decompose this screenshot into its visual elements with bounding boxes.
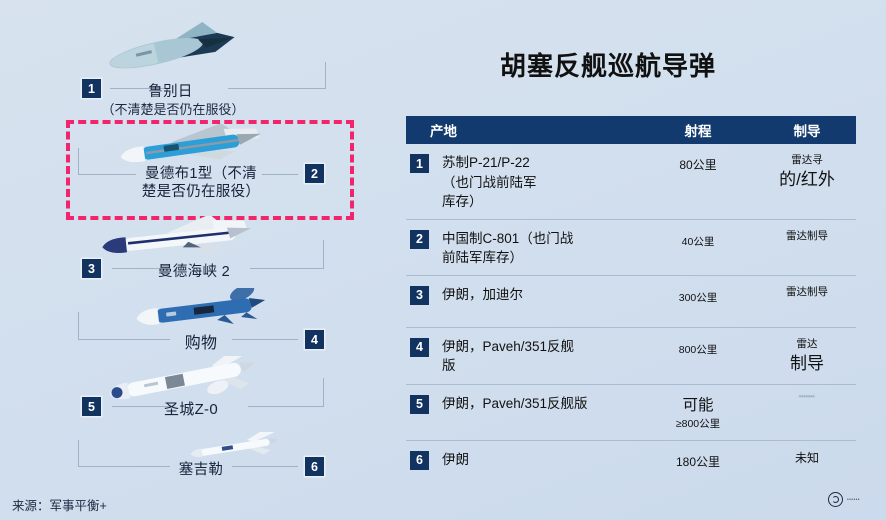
origin-text: 伊朗 [442, 450, 469, 470]
table-header-row: 产地 射程 制导 [406, 116, 856, 144]
origin-text: 伊朗，Paveh/351反舰 版 [442, 337, 574, 376]
cell-range: 300公里 [638, 285, 758, 320]
logo-mark-icon [828, 492, 843, 507]
row-badge-2[interactable]: 2 [410, 230, 429, 249]
connector-5-right [248, 406, 324, 407]
missile-label-3: 曼德海峡 2 [131, 260, 257, 281]
table-row: 2 中国制C-801（也门战 前陆军库存） 40公里 雷达制导 [406, 220, 856, 276]
page-title: 胡塞反舰巡航导弹 [500, 46, 716, 83]
cell-guidance: 雷达寻 的/红外 [758, 153, 856, 212]
guidance-text-small: 雷达制导 [758, 229, 856, 244]
cell-origin: 4 伊朗，Paveh/351反舰 版 [406, 337, 638, 377]
origin-text: 伊朗，加迪尔 [442, 285, 523, 305]
diagram-badge-6[interactable]: 6 [305, 457, 324, 476]
cell-guidance: 雷达 制导 [758, 337, 856, 377]
range-value: 可能 [638, 394, 758, 417]
cell-range: 80公里 [638, 153, 758, 212]
connector-3-vertical [323, 240, 324, 269]
cell-range: 可能 ≥800公里 [638, 394, 758, 433]
missile-sublabel-1: （不清楚是否仍在服役） [48, 99, 298, 118]
diagram-badge-2[interactable]: 2 [305, 164, 324, 183]
table-row: 6 伊朗 180公里 未知 [406, 441, 856, 485]
guidance-text-small: 雷达 [758, 337, 856, 352]
row-badge-5[interactable]: 5 [410, 395, 429, 414]
origin-text: 中国制C-801（也门战 前陆军库存） [442, 229, 573, 268]
guidance-text-large: 未知 [758, 450, 856, 467]
connector-1-vertical [325, 62, 326, 89]
range-value: 800公里 [679, 344, 718, 356]
connector-3-right [250, 268, 324, 269]
publisher-logo: •••••• [828, 492, 860, 507]
guidance-text-small: 雷达制导 [758, 285, 856, 300]
range-value: 300公里 [679, 292, 718, 304]
cell-origin: 1 苏制P-21/P-22 （也门战前陆军 库存） [406, 153, 638, 212]
guidance-text-illegible: ••••••• [758, 394, 856, 401]
connector-4-right [232, 339, 298, 340]
missile-illustration-1 [96, 22, 244, 80]
cell-range: 40公里 [638, 229, 758, 268]
missile-label-4: 购物 [171, 329, 231, 353]
column-header-guidance: 制导 [758, 120, 856, 140]
missile-diagram-panel: 1 鲁别日 （不清楚是否仍在服役） 2 曼德布1型（不清楚是否仍在服役） [0, 0, 392, 520]
guidance-text-large: 制导 [758, 352, 856, 377]
column-header-range: 射程 [638, 120, 758, 140]
cell-range: 800公里 [638, 337, 758, 377]
cell-origin: 6 伊朗 [406, 450, 638, 478]
range-note: ≥800公里 [638, 417, 758, 433]
cell-guidance: ••••••• [758, 394, 856, 433]
diagram-badge-5[interactable]: 5 [82, 397, 101, 416]
missile-label-6: 塞吉勒 [169, 458, 233, 479]
row-badge-1[interactable]: 1 [410, 154, 429, 173]
cell-guidance: 雷达制导 [758, 285, 856, 320]
cell-origin: 3 伊朗，加迪尔 [406, 285, 638, 320]
range-value: 180公里 [676, 455, 720, 469]
cell-guidance: 未知 [758, 450, 856, 478]
missile-specs-table: 产地 射程 制导 1 苏制P-21/P-22 （也门战前陆军 库存） 80公里 … [406, 116, 856, 485]
origin-text: 苏制P-21/P-22 （也门战前陆军 库存） [442, 153, 537, 212]
missile-illustration-4 [132, 288, 268, 334]
missile-illustration-3 [96, 216, 256, 264]
diagram-badge-3[interactable]: 3 [82, 259, 101, 278]
connector-1-right [228, 88, 326, 89]
connector-2-left [78, 174, 136, 175]
connector-2-right [262, 174, 298, 175]
connector-6-vertical [78, 440, 79, 467]
connector-4-vertical [78, 312, 79, 340]
cell-guidance: 雷达制导 [758, 229, 856, 268]
table-row: 1 苏制P-21/P-22 （也门战前陆军 库存） 80公里 雷达寻 的/红外 [406, 144, 856, 220]
row-badge-4[interactable]: 4 [410, 338, 429, 357]
missile-label-5: 圣城Z-0 [128, 398, 254, 419]
diagram-badge-1[interactable]: 1 [82, 79, 101, 98]
row-badge-3[interactable]: 3 [410, 286, 429, 305]
cell-origin: 2 中国制C-801（也门战 前陆军库存） [406, 229, 638, 268]
column-header-origin: 产地 [406, 120, 638, 140]
connector-5-vertical [323, 378, 324, 407]
connector-2-vertical [78, 148, 79, 175]
connector-6-left [78, 466, 170, 467]
source-note: 来源：军事平衡+ [12, 495, 107, 514]
missile-label-1: 鲁别日 [108, 80, 233, 101]
range-value: 80公里 [679, 158, 716, 172]
connector-6-right [232, 466, 298, 467]
connector-4-left [78, 339, 170, 340]
diagram-badge-4[interactable]: 4 [305, 330, 324, 349]
missile-label-2: 曼德布1型（不清楚是否仍在服役） [140, 165, 262, 201]
guidance-text-small: 雷达寻 [758, 153, 856, 168]
logo-wordmark: •••••• [847, 497, 860, 503]
guidance-text-large: 的/红外 [758, 168, 856, 193]
range-value: 40公里 [682, 236, 715, 248]
table-row: 4 伊朗，Paveh/351反舰 版 800公里 雷达 制导 [406, 328, 856, 385]
cell-origin: 5 伊朗，Paveh/351反舰版 [406, 394, 638, 433]
table-row: 5 伊朗，Paveh/351反舰版 可能 ≥800公里 ••••••• [406, 385, 856, 441]
table-row: 3 伊朗，加迪尔 300公里 雷达制导 [406, 276, 856, 328]
row-badge-6[interactable]: 6 [410, 451, 429, 470]
cell-range: 180公里 [638, 450, 758, 478]
origin-text: 伊朗，Paveh/351反舰版 [442, 394, 588, 414]
